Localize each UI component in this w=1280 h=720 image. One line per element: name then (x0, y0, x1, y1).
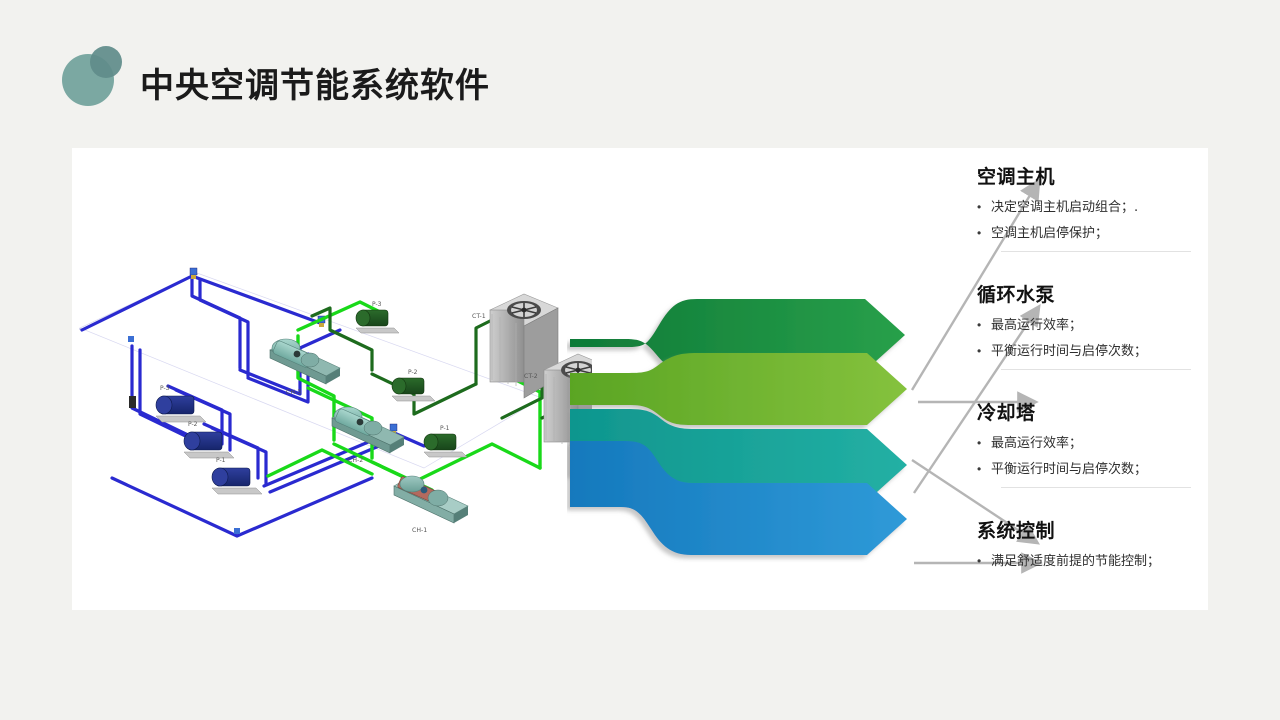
section-heading-system-control: 系统控制 (977, 516, 1213, 543)
bullet-marker-icon: • (977, 343, 991, 360)
section-divider (1001, 487, 1191, 488)
bullet-marker-icon: • (977, 225, 991, 242)
bullet-text: 满足舒适度前提的节能控制； (991, 553, 1160, 570)
bullet-text: 最高运行效率； (991, 317, 1082, 334)
bullet-text: 决定空调主机启动组合；. (991, 199, 1138, 216)
bullet-item: • 平衡运行时间与启停次数； (977, 343, 1213, 360)
two-circles-logo-icon (62, 46, 124, 108)
svg-text:P-2: P-2 (408, 369, 418, 376)
bullet-marker-icon: • (977, 553, 991, 570)
chiller-CH-1: CH-1 (394, 476, 468, 534)
svg-text:P-1: P-1 (216, 457, 226, 464)
bullet-marker-icon: • (977, 461, 991, 478)
bullet-text: 平衡运行时间与启停次数； (991, 343, 1147, 360)
bullet-marker-icon: • (977, 317, 991, 334)
section-heading-pump: 循环水泵 (977, 280, 1213, 307)
pump-CP-2: P-2 (392, 369, 435, 401)
svg-text:P-3: P-3 (160, 385, 170, 392)
bullet-item: • 决定空调主机启动组合；. (977, 199, 1213, 216)
bullet-text: 平衡运行时间与启停次数； (991, 461, 1147, 478)
detail-section-cooling-tower: 冷却塔 • 最高运行效率； • 平衡运行时间与启停次数； (977, 398, 1213, 488)
svg-text:CT-1: CT-1 (472, 313, 486, 320)
section-heading-chiller: 空调主机 (977, 162, 1213, 189)
bullet-marker-icon: • (977, 435, 991, 452)
detail-sections: 空调主机 • 决定空调主机启动组合；. • 空调主机启停保护； 循环水泵 • 最… (977, 162, 1217, 602)
logo-circle-small (90, 46, 122, 78)
svg-text:CH-1: CH-1 (412, 527, 427, 534)
detail-section-system-control: 系统控制 • 满足舒适度前提的节能控制； (977, 516, 1213, 579)
svg-text:P-1: P-1 (440, 425, 450, 432)
page-title: 中央空调节能系统软件 (140, 58, 490, 107)
svg-text:CH-2: CH-2 (348, 457, 363, 464)
bullet-item: • 满足舒适度前提的节能控制； (977, 553, 1213, 570)
detail-section-pump: 循环水泵 • 最高运行效率； • 平衡运行时间与启停次数； (977, 280, 1213, 370)
section-divider (1001, 369, 1191, 370)
bullet-text: 空调主机启停保护； (991, 225, 1108, 242)
svg-text:CT-2: CT-2 (524, 373, 538, 380)
pump-P-1: P-1 (212, 457, 262, 494)
pump-CP-3: P-3 (356, 301, 399, 333)
slide-header: 中央空调节能系统软件 (0, 0, 1280, 140)
content-card: CH-3 CH-2 CH-1 P-3 (72, 148, 1208, 610)
bullet-marker-icon: • (977, 199, 991, 216)
hvac-system-schematic: CH-3 CH-2 CH-1 P-3 (72, 218, 592, 548)
bullet-text: 最高运行效率； (991, 435, 1082, 452)
svg-text:CH-3: CH-3 (286, 389, 301, 396)
bullet-item: • 空调主机启停保护； (977, 225, 1213, 242)
svg-text:P-3: P-3 (372, 301, 382, 308)
section-heading-cooling-tower: 冷却塔 (977, 398, 1213, 425)
bullet-item: • 最高运行效率； (977, 317, 1213, 334)
section-divider (1001, 251, 1191, 252)
bullet-item: • 最高运行效率； (977, 435, 1213, 452)
pump-CP-1: P-1 (424, 425, 467, 457)
detail-section-chiller: 空调主机 • 决定空调主机启动组合；. • 空调主机启停保护； (977, 162, 1213, 252)
svg-text:P-2: P-2 (188, 421, 198, 428)
bullet-item: • 平衡运行时间与启停次数； (977, 461, 1213, 478)
